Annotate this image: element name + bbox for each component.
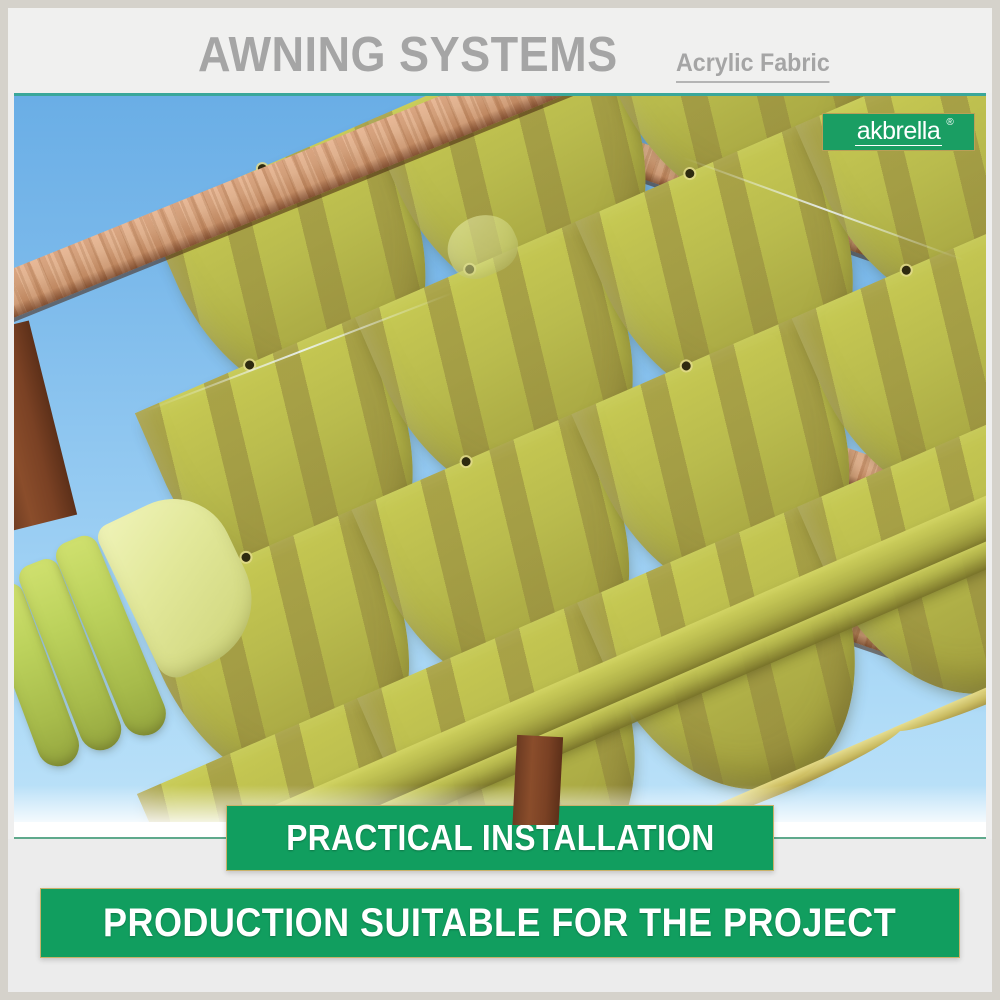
awning-eyelet	[680, 360, 692, 372]
wave-awning-fabric	[14, 93, 986, 825]
registered-trademark-icon: ®	[946, 118, 953, 129]
banner-practical-installation: PRACTICAL INSTALLATION	[226, 805, 774, 871]
product-photo	[14, 93, 986, 825]
awning-eyelet	[240, 551, 252, 563]
page-title: AWNING SYSTEMS	[198, 27, 618, 83]
pergola-post-center	[511, 735, 563, 825]
banner-practical-installation-label: PRACTICAL INSTALLATION	[286, 817, 715, 859]
banner-production-suitable-label: PRODUCTION SUITABLE FOR THE PROJECT	[103, 901, 896, 946]
brand-logo: akbrella ®	[822, 113, 975, 151]
awning-eyelet	[900, 264, 912, 276]
header-subtitle: Acrylic Fabric	[676, 49, 830, 83]
brand-logo-text: akbrella ®	[855, 118, 943, 146]
banner-production-suitable: PRODUCTION SUITABLE FOR THE PROJECT	[40, 888, 960, 958]
awning-eyelet	[460, 456, 472, 468]
poster-root: AWNING SYSTEMS Acrylic Fabric	[0, 0, 1000, 1000]
awning-eyelet	[684, 168, 696, 180]
brand-logo-word: akbrella	[857, 117, 941, 145]
header-bar: AWNING SYSTEMS Acrylic Fabric	[8, 8, 992, 93]
header-inner: AWNING SYSTEMS Acrylic Fabric	[158, 27, 842, 83]
